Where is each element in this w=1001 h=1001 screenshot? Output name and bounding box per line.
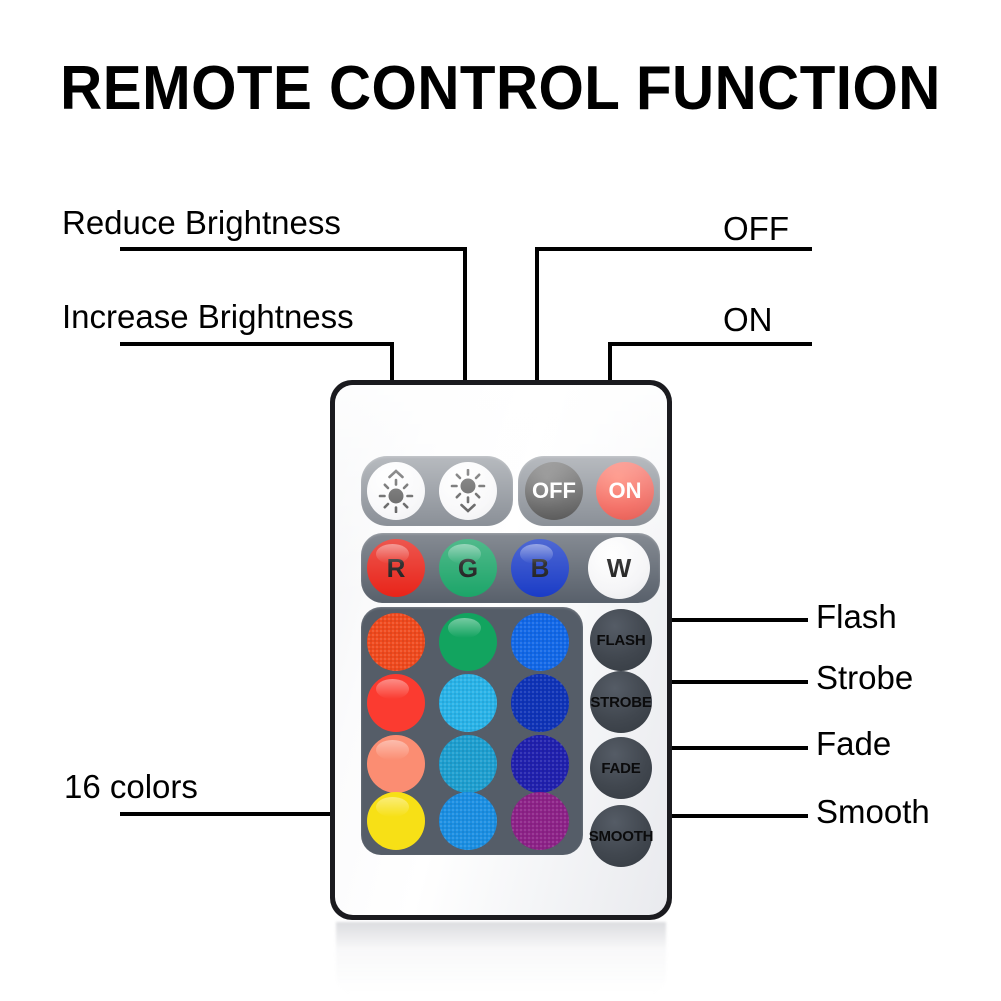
callout-label-strobe: Strobe [816,661,913,694]
button-smooth[interactable]: SMOOTH [590,805,652,867]
button-color-green[interactable]: G [439,539,497,597]
callout-label-smooth: Smooth [816,795,930,828]
button-color-grid-r1c3[interactable] [511,613,569,671]
button-flash[interactable]: FLASH [590,609,652,671]
button-fade[interactable]: FADE [590,737,652,799]
button-on[interactable]: ON [596,462,654,520]
callout-label-on: ON [723,303,773,336]
button-color-white-label: W [607,553,632,584]
leader-line-reduce-brightness-horizontal [120,247,467,251]
sun-up-icon [367,462,425,520]
button-increase-brightness[interactable] [367,462,425,520]
callout-label-increase-brightness: Increase Brightness [62,300,354,333]
button-color-grid-r3c2[interactable] [439,735,497,793]
leader-line-on-horizontal [608,342,812,346]
button-fade-label: FADE [601,760,640,777]
remote-control-face: OFF ON R G B W [335,385,667,915]
button-flash-label: FLASH [597,632,646,649]
button-reduce-brightness[interactable] [439,462,497,520]
remote-control-diagram: REMOTE CONTROL FUNCTION Reduce Brightnes… [0,0,1001,1001]
button-color-grid-r3c1[interactable] [367,735,425,793]
button-color-grid-r1c1[interactable] [367,613,425,671]
button-color-grid-r2c2[interactable] [439,674,497,732]
leader-line-off-horizontal [535,247,812,251]
button-color-green-label: G [458,553,478,584]
remote-control-body: OFF ON R G B W [330,380,672,920]
callout-label-fade: Fade [816,727,891,760]
button-color-grid-r2c1[interactable] [367,674,425,732]
button-color-red[interactable]: R [367,539,425,597]
button-color-grid-r1c2[interactable] [439,613,497,671]
button-off[interactable]: OFF [525,462,583,520]
button-color-blue-label: B [531,553,550,584]
button-color-grid-r4c2[interactable] [439,792,497,850]
button-smooth-label: SMOOTH [589,828,654,845]
page-title: REMOTE CONTROL FUNCTION [30,58,971,120]
callout-label-16-colors: 16 colors [64,770,198,803]
callout-label-flash: Flash [816,600,897,633]
button-color-red-label: R [387,553,406,584]
leader-line-increase-brightness-horizontal [120,342,394,346]
button-color-blue[interactable]: B [511,539,569,597]
callout-label-reduce-brightness: Reduce Brightness [62,206,341,239]
sun-down-icon [439,462,497,520]
remote-reflection [336,922,666,994]
button-color-grid-r4c3[interactable] [511,792,569,850]
button-strobe-label: STROBE [590,694,651,711]
button-strobe[interactable]: STROBE [590,671,652,733]
button-color-grid-r4c1[interactable] [367,792,425,850]
button-off-label: OFF [532,480,576,502]
button-color-white[interactable]: W [588,537,650,599]
button-on-label: ON [609,480,642,502]
button-color-grid-r2c3[interactable] [511,674,569,732]
callout-label-off: OFF [723,212,789,245]
button-color-grid-r3c3[interactable] [511,735,569,793]
